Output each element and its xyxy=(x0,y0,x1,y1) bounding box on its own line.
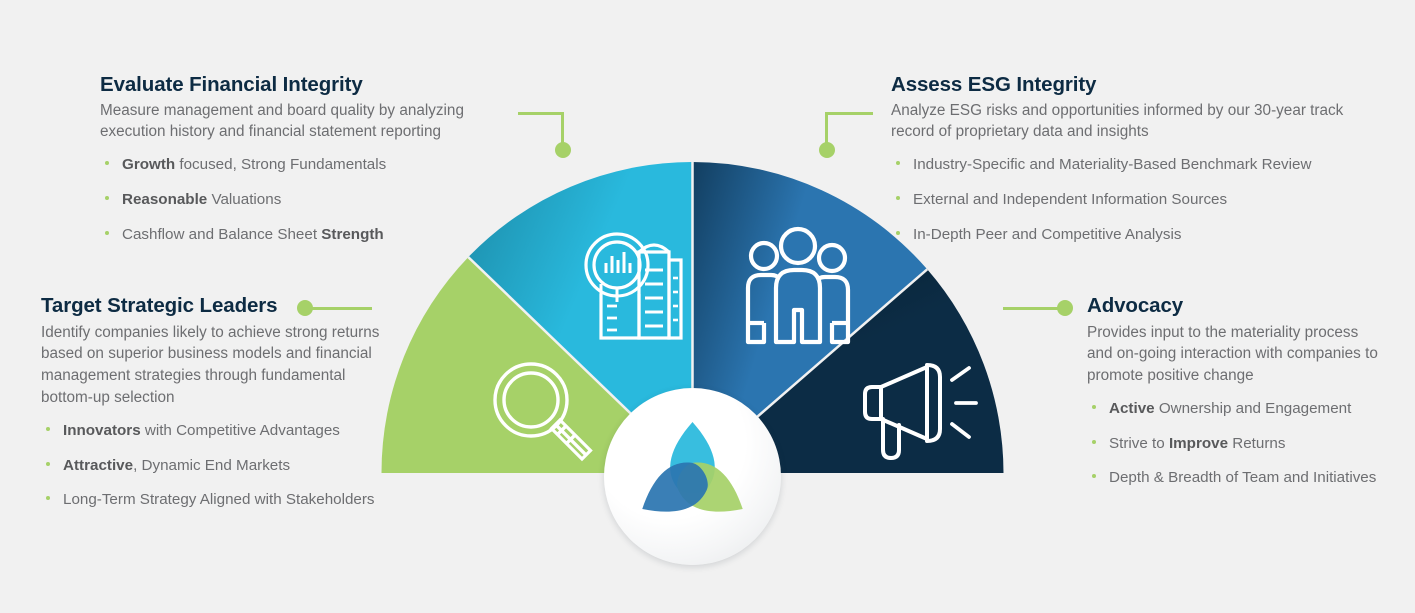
list-item: In-Depth Peer and Competitive Analysis xyxy=(891,224,1381,246)
bullet-list: Growth focused, Strong Fundamentals Reas… xyxy=(100,154,500,245)
bullet-dot-icon xyxy=(46,427,50,431)
bullet-dot-icon xyxy=(1092,440,1096,444)
bullet-strong: Strength xyxy=(321,226,383,243)
bullet-text: Strive to xyxy=(1109,435,1169,452)
bullet-strong: Growth xyxy=(122,156,175,173)
block-target-strategic-leaders: Target Strategic Leaders Identify compan… xyxy=(41,293,386,511)
infographic-canvas: Evaluate Financial Integrity Measure man… xyxy=(0,0,1415,613)
block-description: Provides input to the materiality proces… xyxy=(1087,322,1387,388)
bullet-dot-icon xyxy=(896,196,900,200)
connector-advocacy xyxy=(1001,300,1079,318)
bullet-text: In-Depth Peer and Competitive Analysis xyxy=(913,226,1181,243)
bullet-text: Cashflow and Balance Sheet xyxy=(122,226,321,243)
connector-line-horizontal xyxy=(825,112,873,115)
list-item: Innovators with Competitive Advantages xyxy=(41,420,386,442)
list-item: Growth focused, Strong Fundamentals xyxy=(100,154,500,176)
list-item: Cashflow and Balance Sheet Strength xyxy=(100,224,500,246)
bullet-text: External and Independent Information Sou… xyxy=(913,191,1227,208)
block-title: Advocacy xyxy=(1087,293,1387,319)
bullet-dot-icon xyxy=(105,231,109,235)
block-title: Assess ESG Integrity xyxy=(891,72,1381,98)
connector-assess xyxy=(817,112,887,168)
bullet-list: Innovators with Competitive Advantages A… xyxy=(41,420,386,511)
block-evaluate-financial-integrity: Evaluate Financial Integrity Measure man… xyxy=(100,72,500,245)
bullet-strong: Active xyxy=(1109,400,1155,417)
bullet-dot-icon xyxy=(105,161,109,165)
block-advocacy: Advocacy Provides input to the materiali… xyxy=(1087,293,1387,489)
block-description: Measure management and board quality by … xyxy=(100,100,500,144)
connector-dot xyxy=(1057,300,1073,316)
connector-dot xyxy=(555,142,571,158)
bullet-dot-icon xyxy=(1092,474,1096,478)
bullet-text: focused, Strong Fundamentals xyxy=(175,156,386,173)
list-item: Long-Term Strategy Aligned with Stakehol… xyxy=(41,489,386,511)
connector-line-vertical xyxy=(825,112,828,146)
bullet-dot-icon xyxy=(896,231,900,235)
bullet-strong: Improve xyxy=(1169,435,1228,452)
bullet-text-tail: Returns xyxy=(1228,435,1285,452)
connector-dot xyxy=(819,142,835,158)
connector-line-horizontal xyxy=(518,112,564,115)
block-title: Evaluate Financial Integrity xyxy=(100,72,500,98)
bullet-strong: Reasonable xyxy=(122,191,207,208)
list-item: Active Ownership and Engagement xyxy=(1087,398,1387,420)
block-assess-esg-integrity: Assess ESG Integrity Analyze ESG risks a… xyxy=(891,72,1381,245)
bullet-dot-icon xyxy=(105,196,109,200)
bullet-list: Active Ownership and Engagement Strive t… xyxy=(1087,398,1387,489)
block-description: Identify companies likely to achieve str… xyxy=(41,322,386,409)
list-item: External and Independent Information Sou… xyxy=(891,189,1381,211)
trefoil-logo xyxy=(604,388,781,565)
bullet-strong: Innovators xyxy=(63,422,141,439)
bullet-text: Valuations xyxy=(207,191,281,208)
bullet-dot-icon xyxy=(1092,405,1096,409)
bullet-text: Industry-Specific and Materiality-Based … xyxy=(913,156,1311,173)
bullet-dot-icon xyxy=(896,161,900,165)
bullet-dot-icon xyxy=(46,462,50,466)
bullet-list: Industry-Specific and Materiality-Based … xyxy=(891,154,1381,245)
connector-evaluate xyxy=(510,112,580,168)
bullet-text: Ownership and Engagement xyxy=(1155,400,1352,417)
bullet-text: with Competitive Advantages xyxy=(141,422,340,439)
connector-line-vertical xyxy=(561,112,564,146)
bullet-strong: Attractive xyxy=(63,457,133,474)
list-item: Depth & Breadth of Team and Initiatives xyxy=(1087,467,1387,489)
bullet-dot-icon xyxy=(46,496,50,500)
block-description: Analyze ESG risks and opportunities info… xyxy=(891,100,1381,144)
block-title: Target Strategic Leaders xyxy=(41,293,386,319)
bullet-text: Depth & Breadth of Team and Initiatives xyxy=(1109,469,1376,486)
list-item: Industry-Specific and Materiality-Based … xyxy=(891,154,1381,176)
bullet-text: , Dynamic End Markets xyxy=(133,457,290,474)
list-item: Attractive, Dynamic End Markets xyxy=(41,455,386,477)
bullet-text: Long-Term Strategy Aligned with Stakehol… xyxy=(63,491,375,508)
list-item: Reasonable Valuations xyxy=(100,189,500,211)
list-item: Strive to Improve Returns xyxy=(1087,433,1387,455)
